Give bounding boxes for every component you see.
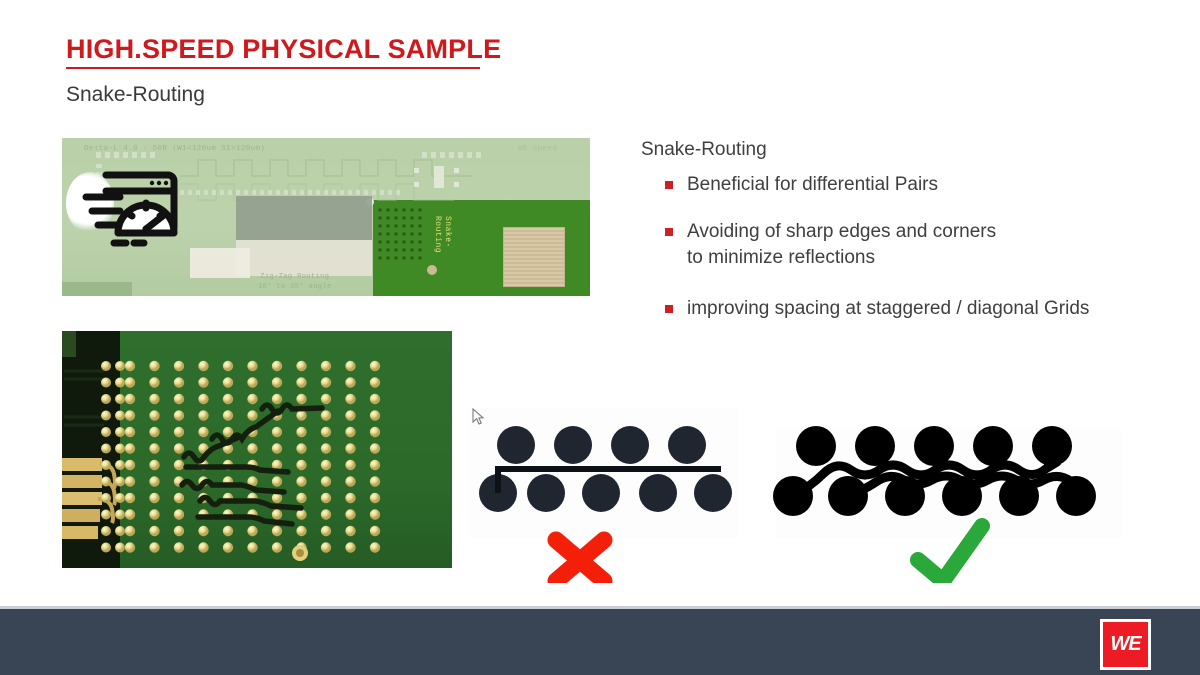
diagram-straight-routing	[468, 408, 738, 583]
we-logo-text: WE	[1110, 633, 1140, 656]
title-underline	[66, 67, 480, 69]
page-title: HIGH.SPEED PHYSICAL SAMPLE	[66, 34, 501, 65]
pcb-silkscreen-brand: WE.speed	[518, 145, 557, 153]
list-item-label: Avoiding of sharp edges and corners to m…	[687, 219, 996, 270]
pcb-silkscreen-main: Delta-L 4.0 - 50R (W1<120um S1>120um)	[84, 145, 265, 153]
mouse-cursor	[472, 408, 486, 426]
list-item-label: Beneficial for differential Pairs	[687, 172, 938, 197]
pcb-top-gold-pad	[503, 227, 565, 287]
diagram-snake-routing	[768, 408, 1130, 583]
pcb-top-cream-overlay-2	[190, 248, 250, 278]
list-item: improving spacing at staggered / diagona…	[641, 296, 1141, 321]
bullet-list: Snake-Routing Beneficial for differentia…	[641, 139, 1141, 343]
pcb-top-snake-label: Snake- Routing	[432, 216, 452, 253]
footer-bar	[0, 609, 1200, 675]
pcb-photo: Snake- Routing	[62, 331, 452, 568]
bullet-square-icon	[665, 305, 673, 313]
bullet-square-icon	[665, 181, 673, 189]
pcb-top-gray-overlay	[236, 196, 372, 240]
pcb-photo-artwork	[62, 331, 452, 568]
we-logo: WE	[1100, 619, 1151, 670]
slide-canvas: HIGH.SPEED PHYSICAL SAMPLE Snake-Routing	[0, 0, 1200, 675]
list-item: Beneficial for differential Pairs	[641, 172, 1141, 197]
list-item-label: improving spacing at staggered / diagona…	[687, 296, 1089, 321]
page-speed-icon	[78, 163, 198, 273]
list-item: Avoiding of sharp edges and corners to m…	[641, 219, 1141, 270]
bullet-list-heading: Snake-Routing	[641, 139, 1141, 161]
pcb-silkscreen-zigzag: Zig-Zag Routing 10° to 35° angle	[258, 272, 332, 292]
cross-icon	[556, 540, 604, 581]
page-subtitle: Snake-Routing	[66, 83, 205, 107]
pcb-top-cream-overlay	[236, 240, 372, 276]
bullet-square-icon	[665, 228, 673, 236]
